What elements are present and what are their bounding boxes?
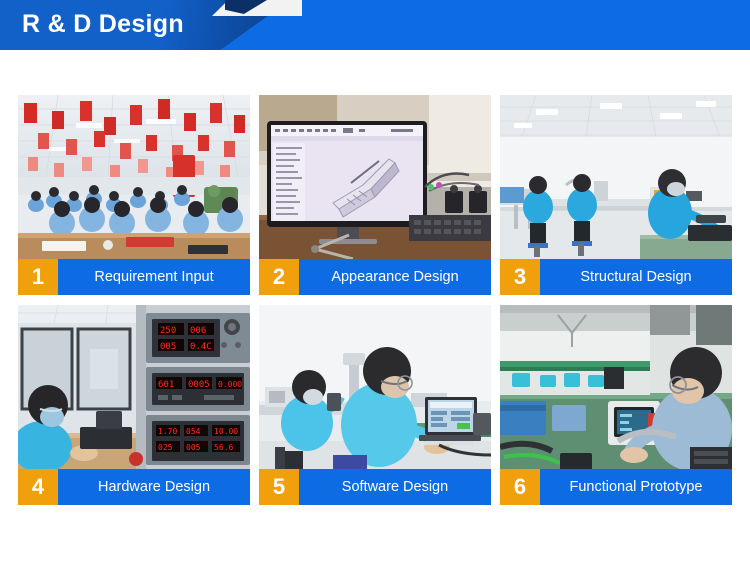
step-caption-6: 6 Functional Prototype (500, 469, 732, 505)
step-card-6[interactable]: 6 Functional Prototype (500, 305, 732, 505)
step-number-4: 4 (18, 469, 58, 505)
svg-text:0.4C: 0.4C (190, 342, 212, 352)
step-caption-1: 1 Requirement Input (18, 259, 250, 295)
svg-text:006: 006 (190, 326, 206, 336)
step-card-5[interactable]: 5 Software Design (259, 305, 491, 505)
step-label-4: Hardware Design (58, 469, 250, 505)
step-number-1: 1 (18, 259, 58, 295)
step-card-1[interactable]: 1 Requirement Input (18, 95, 250, 295)
step-photo-1 (18, 95, 250, 260)
svg-text:601: 601 (158, 380, 174, 390)
step-card-3[interactable]: 3 Structural Design (500, 95, 732, 295)
step-photo-4: 250 006 005 0.4C 601 0005 0.000 (18, 305, 250, 470)
step-label-3: Structural Design (540, 259, 732, 295)
step-number-5: 5 (259, 469, 299, 505)
svg-text:005: 005 (186, 443, 201, 452)
step-caption-5: 5 Software Design (259, 469, 491, 505)
step-photo-3 (500, 95, 732, 260)
step-caption-4: 4 Hardware Design (18, 469, 250, 505)
step-photo-2 (259, 95, 491, 260)
page-header: R & D Design (0, 0, 750, 50)
svg-text:005: 005 (160, 342, 176, 352)
process-step-grid: 1 Requirement Input (18, 95, 732, 505)
page-title: R & D Design (22, 10, 184, 39)
step-caption-2: 2 Appearance Design (259, 259, 491, 295)
step-number-6: 6 (500, 469, 540, 505)
svg-text:1.70: 1.70 (158, 427, 177, 436)
step-label-1: Requirement Input (58, 259, 250, 295)
header-right-band (210, 12, 750, 50)
svg-text:56.6: 56.6 (214, 443, 233, 452)
step-photo-5 (259, 305, 491, 470)
step-number-2: 2 (259, 259, 299, 295)
step-card-4[interactable]: 250 006 005 0.4C 601 0005 0.000 (18, 305, 250, 505)
step-label-6: Functional Prototype (540, 469, 732, 505)
svg-text:0.000: 0.000 (218, 380, 242, 389)
step-label-2: Appearance Design (299, 259, 491, 295)
step-photo-6 (500, 305, 732, 470)
step-label-5: Software Design (299, 469, 491, 505)
svg-text:10.00: 10.00 (214, 427, 238, 436)
step-number-3: 3 (500, 259, 540, 295)
svg-text:025: 025 (158, 443, 173, 452)
svg-text:054: 054 (186, 427, 201, 436)
svg-text:0005: 0005 (188, 380, 210, 390)
step-card-2[interactable]: 2 Appearance Design (259, 95, 491, 295)
step-caption-3: 3 Structural Design (500, 259, 732, 295)
svg-text:250: 250 (160, 326, 176, 336)
